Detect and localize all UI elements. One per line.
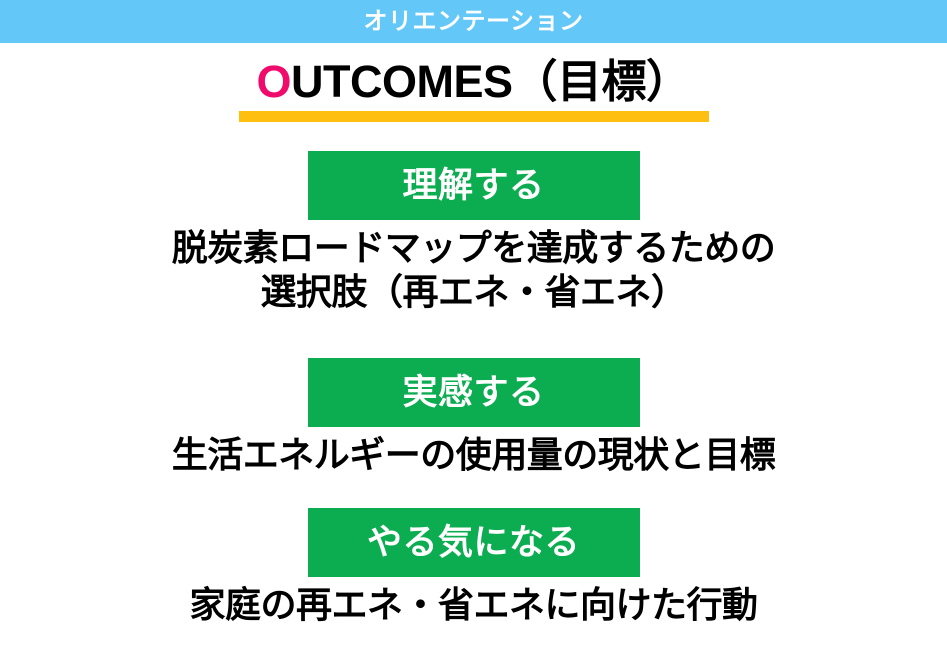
slide-canvas: オリエンテーション OUTCOMES（目標） 理解する 脱炭素ロードマップを達成… — [0, 0, 947, 656]
outcome-description-1-line-1: 脱炭素ロードマップを達成するための — [0, 226, 947, 270]
title-underline — [239, 111, 709, 122]
outcome-description-2-line-1: 生活エネルギーの使用量の現状と目標 — [0, 433, 947, 477]
outcome-block-1: 理解する 脱炭素ロードマップを達成するための 選択肢（再エネ・省エネ） — [0, 151, 947, 314]
outcome-description-2: 生活エネルギーの使用量の現状と目標 — [0, 433, 947, 477]
title-block: OUTCOMES（目標） — [0, 58, 947, 122]
outcome-badge-motivated: やる気になる — [308, 508, 640, 577]
header-bar: オリエンテーション — [0, 0, 947, 43]
outcome-badge-experience: 実感する — [308, 358, 640, 427]
outcome-badge-understand: 理解する — [308, 151, 640, 220]
title-rest-text: UTCOMES（目標） — [291, 56, 691, 107]
outcome-description-1: 脱炭素ロードマップを達成するための 選択肢（再エネ・省エネ） — [0, 226, 947, 314]
page-title: OUTCOMES（目標） — [0, 58, 947, 105]
title-accent-letter: O — [256, 56, 291, 107]
outcome-block-3: やる気になる 家庭の再エネ・省エネに向けた行動 — [0, 508, 947, 627]
outcome-description-1-line-2: 選択肢（再エネ・省エネ） — [0, 270, 947, 314]
outcome-description-3: 家庭の再エネ・省エネに向けた行動 — [0, 583, 947, 627]
header-title: オリエンテーション — [363, 10, 583, 34]
outcome-block-2: 実感する 生活エネルギーの使用量の現状と目標 — [0, 358, 947, 477]
outcome-description-3-line-1: 家庭の再エネ・省エネに向けた行動 — [0, 583, 947, 627]
